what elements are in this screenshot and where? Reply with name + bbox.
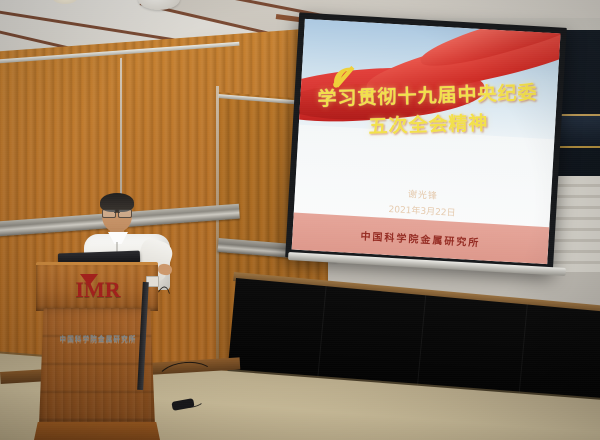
podium-institute-text: 中国科学院金属研究所 <box>60 332 137 344</box>
wall-corner <box>216 86 219 386</box>
imr-logo: IMR <box>50 275 146 305</box>
eyeglass-bridge <box>114 212 120 213</box>
eyeglasses-icon <box>102 209 132 216</box>
podium-institute-plate: 中国科学院金属研究所 <box>55 324 141 352</box>
screen-surface: 学习贯彻十九届中央纪委 五次全会精神 谢光锋 2021年3月22日 中国科学院金… <box>292 19 561 264</box>
eyeglass-lens-right <box>118 209 132 218</box>
photo-scene: 学习贯彻十九届中央纪委 五次全会精神 谢光锋 2021年3月22日 中国科学院金… <box>0 0 600 440</box>
podium-base <box>34 422 160 440</box>
eyeglass-lens-left <box>102 209 116 218</box>
ccp-hammer-sickle-emblem-icon <box>327 60 362 92</box>
ceiling-light-icon <box>52 0 78 4</box>
projection-screen[interactable]: 学习贯彻十九届中央纪委 五次全会精神 谢光锋 2021年3月22日 中国科学院金… <box>285 12 567 272</box>
imr-triangle-icon <box>80 274 98 286</box>
podium-top: IMR <box>36 262 158 311</box>
presentation-slide: 学习贯彻十九届中央纪委 五次全会精神 谢光锋 2021年3月22日 中国科学院金… <box>292 19 561 264</box>
slide-footer-text: 中国科学院金属研究所 <box>360 227 481 249</box>
